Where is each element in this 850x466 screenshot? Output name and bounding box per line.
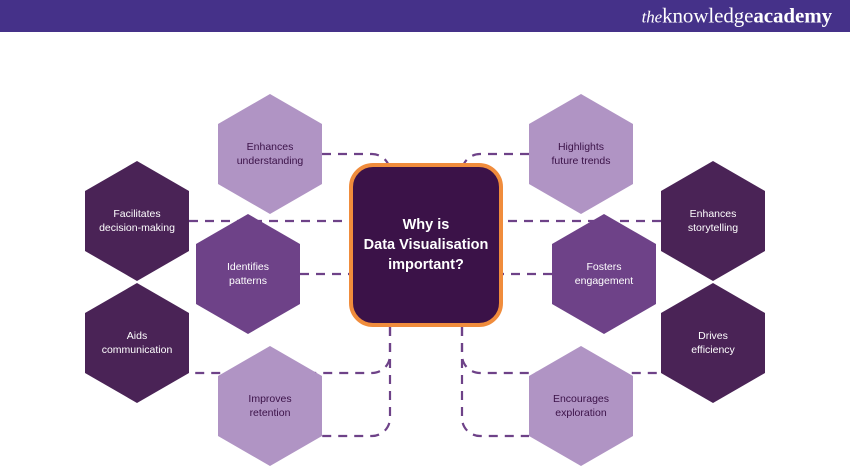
hex-node-label: Enhances understanding bbox=[234, 140, 307, 168]
brand-logo-the: the bbox=[642, 8, 662, 27]
hex-node-label: Encourages exploration bbox=[550, 392, 612, 420]
hex-node-label: Facilitates decision-making bbox=[96, 207, 178, 235]
brand-logo-academy: academy bbox=[753, 4, 832, 28]
brand-logo: theknowledgeacademy bbox=[642, 6, 832, 27]
connector-line bbox=[462, 327, 529, 436]
brand-logo-knowledge: knowledge bbox=[662, 4, 753, 28]
diagram-canvas: Why is Data Visualisation important? Enh… bbox=[0, 32, 850, 450]
hex-node-label: Highlights future trends bbox=[549, 140, 614, 168]
header-bar: theknowledgeacademy bbox=[0, 0, 850, 32]
hex-node-label: Fosters engagement bbox=[572, 260, 636, 288]
center-node-label: Why is Data Visualisation important? bbox=[358, 215, 495, 275]
hex-node-label: Drives efficiency bbox=[688, 329, 738, 357]
center-node[interactable]: Why is Data Visualisation important? bbox=[349, 163, 503, 327]
hex-node-label: Enhances storytelling bbox=[685, 207, 741, 235]
hex-node-label: Improves retention bbox=[245, 392, 294, 420]
hex-node-label: Identifies patterns bbox=[224, 260, 272, 288]
hex-node-label: Aids communication bbox=[99, 329, 176, 357]
page-root: theknowledgeacademy Why is Data Visualis… bbox=[0, 0, 850, 450]
connector-line bbox=[322, 327, 390, 436]
